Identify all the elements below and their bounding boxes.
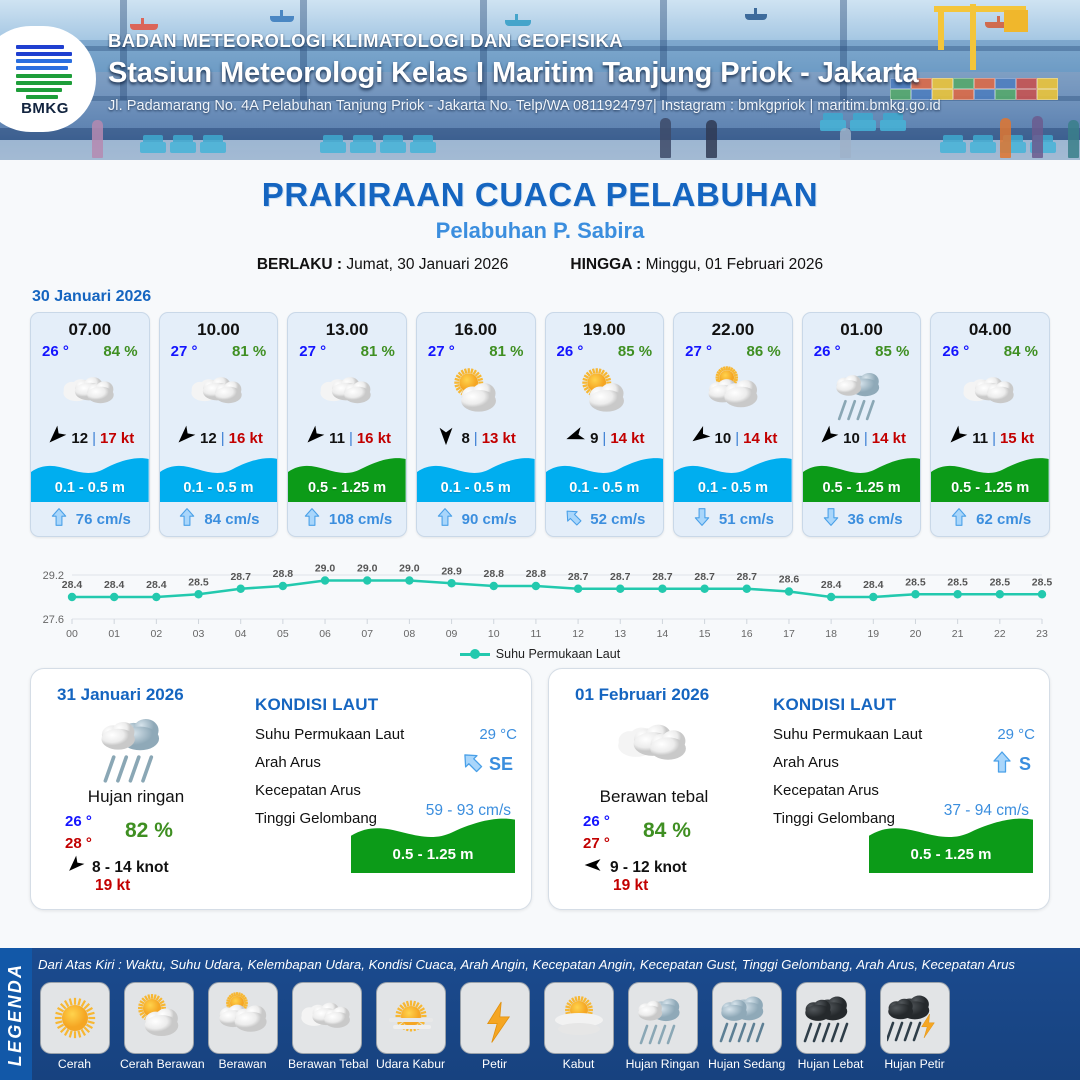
- current-direction-arrow-icon: [949, 507, 969, 531]
- svg-text:28.7: 28.7: [568, 571, 589, 583]
- legend-item: Cerah: [36, 982, 113, 1071]
- day-temp-max: 28 °: [65, 833, 92, 855]
- card-wind-speed: 10: [843, 430, 860, 447]
- svg-text:29.2: 29.2: [43, 570, 64, 582]
- legend-item-label: Hujan Lebat: [792, 1057, 869, 1071]
- bmkg-logo-mark: [16, 41, 74, 99]
- card-gust: 14 kt: [743, 430, 777, 447]
- svg-text:12: 12: [572, 628, 584, 640]
- card-gust: 16 kt: [229, 430, 263, 447]
- boat-icon: [745, 14, 767, 20]
- hourly-forecast-cards: 07.0026 °84 %12|17 kt0.1 - 0.5 m76 cm/s1…: [0, 312, 1080, 537]
- svg-text:16: 16: [741, 628, 753, 640]
- card-wind: 11|15 kt: [931, 424, 1049, 452]
- svg-text:02: 02: [151, 628, 163, 640]
- svg-text:29.0: 29.0: [357, 563, 378, 575]
- card-wind-separator: |: [992, 430, 996, 447]
- card-current-speed: 108 cm/s: [329, 511, 392, 528]
- current-direction-value-group: SE: [460, 750, 513, 779]
- svg-text:04: 04: [235, 628, 247, 640]
- card-wind-separator: |: [864, 430, 868, 447]
- card-temperature: 27 °: [428, 343, 455, 360]
- current-speed-label: Kecepatan Arus: [255, 782, 361, 799]
- card-temp-hum: 26 °85 %: [803, 340, 921, 360]
- card-wind-separator: |: [735, 430, 739, 447]
- card-current: 51 cm/s: [674, 502, 792, 536]
- header-banner: BMKG BADAN METEOROLOGI KLIMATOLOGI DAN G…: [0, 0, 1080, 160]
- forecast-card: 13.0027 °81 %11|16 kt0.5 - 1.25 m108 cm/…: [287, 312, 407, 537]
- svg-text:28.7: 28.7: [694, 571, 715, 583]
- current-direction-value: S: [1019, 754, 1031, 775]
- card-wind-speed: 12: [200, 430, 217, 447]
- card-wind: 8|13 kt: [417, 424, 535, 452]
- hujan-ringan-icon: [803, 362, 921, 424]
- day-humidity: 84 %: [643, 819, 691, 843]
- legend-item-label: Berawan: [204, 1057, 281, 1071]
- legend-item: Petir: [456, 982, 533, 1071]
- boat-icon: [505, 20, 531, 26]
- current-direction-value-group: S: [990, 750, 1031, 779]
- day-temps: 26 °27 °: [583, 811, 610, 855]
- day-temp-min: 26 °: [65, 811, 92, 833]
- card-humidity: 81 %: [232, 343, 266, 360]
- legend-item: Hujan Petir: [876, 982, 953, 1071]
- day-wind-speed: 8 - 14 knot: [92, 859, 169, 877]
- svg-text:28.5: 28.5: [905, 576, 926, 588]
- day-gust: 19 kt: [95, 877, 130, 895]
- card-temp-hum: 26 °84 %: [931, 340, 1049, 360]
- day-humidity: 82 %: [125, 819, 173, 843]
- svg-text:06: 06: [319, 628, 331, 640]
- card-wave-height: 0.1 - 0.5 m: [674, 480, 792, 496]
- berawan-icon: [208, 982, 278, 1054]
- svg-text:18: 18: [825, 628, 837, 640]
- sst-row: Suhu Permukaan Laut29 °C: [255, 726, 517, 743]
- legend-item: Kabut: [540, 982, 617, 1071]
- card-wind-speed: 8: [461, 430, 469, 447]
- card-wave: 0.5 - 1.25 m: [931, 452, 1049, 502]
- card-current: 76 cm/s: [31, 502, 149, 536]
- card-wind: 10|14 kt: [803, 424, 921, 452]
- card-gust: 17 kt: [100, 430, 134, 447]
- card-wind-separator: |: [92, 430, 96, 447]
- current-direction-row: Arah ArusS: [773, 754, 1035, 771]
- card-temperature: 26 °: [557, 343, 584, 360]
- cerah-icon: [40, 982, 110, 1054]
- card-gust: 13 kt: [482, 430, 516, 447]
- current-direction-arrow-icon: [49, 507, 69, 531]
- card-humidity: 85 %: [618, 343, 652, 360]
- card-humidity: 81 %: [489, 343, 523, 360]
- card-wind: 12|17 kt: [31, 424, 149, 452]
- card-temp-hum: 27 °81 %: [417, 340, 535, 360]
- svg-text:15: 15: [699, 628, 711, 640]
- agency-name: BADAN METEOROLOGI KLIMATOLOGI DAN GEOFIS…: [108, 30, 941, 52]
- berawan-tebal-icon: [579, 707, 729, 785]
- hujan-ringan-icon: [628, 982, 698, 1054]
- svg-text:13: 13: [614, 628, 626, 640]
- svg-text:28.5: 28.5: [990, 576, 1011, 588]
- svg-text:28.7: 28.7: [652, 571, 673, 583]
- legend-side-text: LEGENDA: [6, 962, 27, 1065]
- current-direction-label: Arah Arus: [773, 754, 839, 771]
- daily-forecast-panel: 01 Februari 2026Berawan tebal26 °27 °84 …: [548, 668, 1050, 910]
- current-direction-label: Arah Arus: [255, 754, 321, 771]
- sea-condition-title: KONDISI LAUT: [773, 695, 1035, 715]
- petir-icon: [460, 982, 530, 1054]
- legend-item-label: Berawan Tebal: [288, 1057, 365, 1071]
- daily-forecast-panel: 31 Januari 2026Hujan ringan26 °28 °82 %8…: [30, 668, 532, 910]
- legend-item-label: Petir: [456, 1057, 533, 1071]
- day-date: 31 Januari 2026: [57, 685, 184, 705]
- card-wind-speed: 11: [329, 430, 345, 447]
- svg-text:28.5: 28.5: [188, 576, 209, 588]
- card-wave-height: 0.5 - 1.25 m: [931, 480, 1049, 496]
- svg-text:29.0: 29.0: [315, 563, 336, 575]
- card-wind-speed: 12: [71, 430, 88, 447]
- current-direction-value: SE: [489, 754, 513, 775]
- wave-height-value: 0.5 - 1.25 m: [869, 846, 1033, 863]
- current-direction-arrow-icon: [302, 507, 322, 531]
- cerah-berawan-icon: [124, 982, 194, 1054]
- svg-text:01: 01: [108, 628, 120, 640]
- current-direction-row: Arah ArusSE: [255, 754, 517, 771]
- wind-direction-arrow-icon: [45, 425, 67, 451]
- svg-text:28.8: 28.8: [484, 568, 505, 580]
- card-wave-height: 0.5 - 1.25 m: [288, 480, 406, 496]
- card-wave-height: 0.1 - 0.5 m: [417, 480, 535, 496]
- card-wave: 0.1 - 0.5 m: [674, 452, 792, 502]
- station-address: Jl. Padamarang No. 4A Pelabuhan Tanjung …: [108, 98, 941, 114]
- forecast-card: 04.0026 °84 %11|15 kt0.5 - 1.25 m62 cm/s: [930, 312, 1050, 537]
- card-temp-hum: 27 °81 %: [160, 340, 278, 360]
- svg-text:08: 08: [404, 628, 416, 640]
- berawan-tebal-icon: [288, 362, 406, 424]
- svg-text:28.7: 28.7: [737, 571, 758, 583]
- card-temp-hum: 26 °84 %: [31, 340, 149, 360]
- legend-item: Berawan Tebal: [288, 982, 365, 1071]
- card-wind-separator: |: [474, 430, 478, 447]
- svg-text:28.7: 28.7: [230, 571, 251, 583]
- hingga-label: HINGGA :: [570, 256, 641, 273]
- cerah-berawan-icon: [417, 362, 535, 424]
- berawan-tebal-icon: [31, 362, 149, 424]
- forecast-date-label: 30 Januari 2026: [32, 288, 1080, 306]
- legend-item: Berawan: [204, 982, 281, 1071]
- card-wave: 0.5 - 1.25 m: [803, 452, 921, 502]
- day-gust: 19 kt: [613, 877, 648, 895]
- kabut-icon: [544, 982, 614, 1054]
- berlaku-label: BERLAKU :: [257, 256, 342, 273]
- card-wind-separator: |: [349, 430, 353, 447]
- card-current-speed: 84 cm/s: [204, 511, 259, 528]
- berlaku-value: Jumat, 30 Januari 2026: [346, 256, 508, 273]
- svg-text:28.8: 28.8: [526, 568, 547, 580]
- svg-text:14: 14: [657, 628, 669, 640]
- forecast-card: 07.0026 °84 %12|17 kt0.1 - 0.5 m76 cm/s: [30, 312, 150, 537]
- card-wind-speed: 9: [590, 430, 598, 447]
- card-temperature: 27 °: [685, 343, 712, 360]
- legend-caption: Dari Atas Kiri : Waktu, Suhu Udara, Kele…: [38, 957, 1076, 972]
- svg-text:28.4: 28.4: [821, 579, 842, 591]
- card-current-speed: 90 cm/s: [462, 511, 517, 528]
- svg-text:10: 10: [488, 628, 500, 640]
- card-time: 22.00: [674, 313, 792, 340]
- card-time: 04.00: [931, 313, 1049, 340]
- forecast-card: 10.0027 °81 %12|16 kt0.1 - 0.5 m84 cm/s: [159, 312, 279, 537]
- card-time: 19.00: [546, 313, 664, 340]
- svg-text:09: 09: [446, 628, 458, 640]
- svg-text:28.4: 28.4: [62, 579, 83, 591]
- wind-direction-arrow-icon: [65, 855, 85, 880]
- legend-side-label: LEGENDA: [0, 948, 32, 1080]
- day-temp-min: 26 °: [583, 811, 610, 833]
- svg-text:20: 20: [910, 628, 922, 640]
- sst-value: 29 °C: [997, 726, 1035, 743]
- sea-condition-block: KONDISI LAUTSuhu Permukaan Laut29 °CArah…: [255, 695, 517, 827]
- card-gust: 14 kt: [872, 430, 906, 447]
- card-wind-speed: 11: [972, 430, 988, 447]
- current-speed-label: Kecepatan Arus: [773, 782, 879, 799]
- current-direction-arrow-icon: [990, 750, 1014, 779]
- legend-item: Udara Kabur: [372, 982, 449, 1071]
- card-current: 62 cm/s: [931, 502, 1049, 536]
- wind-direction-arrow-icon: [174, 425, 196, 451]
- card-wave: 0.1 - 0.5 m: [546, 452, 664, 502]
- legend-item-label: Cerah Berawan: [120, 1057, 197, 1071]
- berlaku-group: BERLAKU : Jumat, 30 Januari 2026: [257, 256, 509, 274]
- svg-text:28.5: 28.5: [1032, 576, 1053, 588]
- svg-text:28.6: 28.6: [779, 574, 800, 586]
- wind-direction-arrow-icon: [435, 425, 457, 451]
- wave-height-badge: 0.5 - 1.25 m: [869, 811, 1033, 873]
- daily-forecast-panels: 31 Januari 2026Hujan ringan26 °28 °82 %8…: [0, 668, 1080, 910]
- svg-text:03: 03: [193, 628, 205, 640]
- hingga-value: Minggu, 01 Februari 2026: [646, 256, 824, 273]
- sst-label: Suhu Permukaan Laut: [773, 726, 922, 743]
- card-wave: 0.1 - 0.5 m: [417, 452, 535, 502]
- card-humidity: 86 %: [747, 343, 781, 360]
- svg-text:07: 07: [361, 628, 373, 640]
- card-time: 01.00: [803, 313, 921, 340]
- current-direction-arrow-icon: [692, 507, 712, 531]
- udara-kabur-icon: [376, 982, 446, 1054]
- bmkg-logo-text: BMKG: [21, 100, 69, 117]
- hujan-lebat-icon: [796, 982, 866, 1054]
- current-direction-arrow-icon: [563, 507, 583, 531]
- card-humidity: 81 %: [361, 343, 395, 360]
- hingga-group: HINGGA : Minggu, 01 Februari 2026: [570, 256, 823, 274]
- legend-item-label: Hujan Petir: [876, 1057, 953, 1071]
- sst-chart: 29.227.600010203040506070809101112131415…: [20, 547, 1060, 662]
- svg-text:28.4: 28.4: [863, 579, 884, 591]
- sst-row: Suhu Permukaan Laut29 °C: [773, 726, 1035, 743]
- legend-item-label: Kabut: [540, 1057, 617, 1071]
- validity-row: BERLAKU : Jumat, 30 Januari 2026 HINGGA …: [0, 256, 1080, 274]
- day-wind-speed: 9 - 12 knot: [610, 859, 687, 877]
- page-title-block: PRAKIRAAN CUACA PELABUHAN Pelabuhan P. S…: [0, 176, 1080, 274]
- card-current: 90 cm/s: [417, 502, 535, 536]
- card-wave: 0.5 - 1.25 m: [288, 452, 406, 502]
- svg-text:28.9: 28.9: [441, 565, 462, 577]
- legend-item: Hujan Sedang: [708, 982, 785, 1071]
- wind-direction-arrow-icon: [946, 425, 968, 451]
- current-speed-row: Kecepatan Arus59 - 93 cm/s: [255, 782, 517, 799]
- card-time: 13.00: [288, 313, 406, 340]
- legend-item: Hujan Ringan: [624, 982, 701, 1071]
- day-condition: Berawan tebal: [549, 787, 759, 807]
- forecast-card: 19.0026 °85 %9|14 kt0.1 - 0.5 m52 cm/s: [545, 312, 665, 537]
- hujan-petir-icon: [880, 982, 950, 1054]
- svg-text:00: 00: [66, 628, 78, 640]
- card-humidity: 84 %: [1004, 343, 1038, 360]
- card-humidity: 84 %: [103, 343, 137, 360]
- day-date: 01 Februari 2026: [575, 685, 709, 705]
- card-wind-separator: |: [221, 430, 225, 447]
- card-wind: 10|14 kt: [674, 424, 792, 452]
- banner-text-block: BADAN METEOROLOGI KLIMATOLOGI DAN GEOFIS…: [108, 30, 941, 114]
- svg-text:21: 21: [952, 628, 964, 640]
- card-current-speed: 76 cm/s: [76, 511, 131, 528]
- day-condition: Hujan ringan: [31, 787, 241, 807]
- day-temps: 26 °28 °: [65, 811, 92, 855]
- station-name: Stasiun Meteorologi Kelas I Maritim Tanj…: [108, 57, 941, 90]
- legend-item: Cerah Berawan: [120, 982, 197, 1071]
- card-current-speed: 36 cm/s: [848, 511, 903, 528]
- chart-legend-label: Suhu Permukaan Laut: [496, 647, 620, 661]
- svg-text:29.0: 29.0: [399, 563, 420, 575]
- berawan-tebal-icon: [160, 362, 278, 424]
- svg-text:28.4: 28.4: [146, 579, 167, 591]
- forecast-card: 01.0026 °85 %10|14 kt0.5 - 1.25 m36 cm/s: [802, 312, 922, 537]
- wind-direction-arrow-icon: [817, 425, 839, 451]
- hujan-ringan-icon: [61, 707, 211, 785]
- legend-items: CerahCerah BerawanBerawanBerawan TebalUd…: [36, 982, 1078, 1071]
- forecast-card: 16.0027 °81 %8|13 kt0.1 - 0.5 m90 cm/s: [416, 312, 536, 537]
- legend-item: Hujan Lebat: [792, 982, 869, 1071]
- svg-text:28.8: 28.8: [273, 568, 294, 580]
- card-temp-hum: 26 °85 %: [546, 340, 664, 360]
- card-temp-hum: 27 °81 %: [288, 340, 406, 360]
- page-title: PRAKIRAAN CUACA PELABUHAN: [0, 176, 1080, 214]
- card-temperature: 27 °: [171, 343, 198, 360]
- wave-height-row: Tinggi Gelombang0.5 - 1.25 m: [255, 810, 517, 827]
- card-temp-hum: 27 °86 %: [674, 340, 792, 360]
- svg-text:23: 23: [1036, 628, 1048, 640]
- card-humidity: 85 %: [875, 343, 909, 360]
- current-direction-arrow-icon: [821, 507, 841, 531]
- sst-value: 29 °C: [479, 726, 517, 743]
- svg-text:28.5: 28.5: [947, 576, 968, 588]
- sea-condition-block: KONDISI LAUTSuhu Permukaan Laut29 °CArah…: [773, 695, 1035, 827]
- berawan-tebal-icon: [931, 362, 1049, 424]
- card-gust: 14 kt: [610, 430, 644, 447]
- card-wave: 0.1 - 0.5 m: [160, 452, 278, 502]
- svg-text:19: 19: [867, 628, 879, 640]
- legend-item-label: Hujan Ringan: [624, 1057, 701, 1071]
- card-wave-height: 0.1 - 0.5 m: [31, 480, 149, 496]
- svg-text:17: 17: [783, 628, 795, 640]
- card-current-speed: 52 cm/s: [590, 511, 645, 528]
- svg-text:22: 22: [994, 628, 1006, 640]
- chart-legend-marker: [460, 653, 490, 656]
- svg-text:28.7: 28.7: [610, 571, 631, 583]
- wave-height-value: 0.5 - 1.25 m: [351, 846, 515, 863]
- card-current-speed: 62 cm/s: [976, 511, 1031, 528]
- boat-icon: [270, 16, 294, 22]
- card-wind-separator: |: [602, 430, 606, 447]
- svg-text:11: 11: [530, 628, 541, 640]
- wind-direction-arrow-icon: [583, 855, 603, 880]
- card-wind: 12|16 kt: [160, 424, 278, 452]
- card-current: 52 cm/s: [546, 502, 664, 536]
- card-temperature: 26 °: [42, 343, 69, 360]
- card-current-speed: 51 cm/s: [719, 511, 774, 528]
- card-time: 10.00: [160, 313, 278, 340]
- berawan-tebal-icon: [292, 982, 362, 1054]
- card-temperature: 27 °: [299, 343, 326, 360]
- svg-text:05: 05: [277, 628, 289, 640]
- current-direction-arrow-icon: [460, 750, 484, 779]
- legend-item-label: Cerah: [36, 1057, 113, 1071]
- card-current: 84 cm/s: [160, 502, 278, 536]
- card-current: 108 cm/s: [288, 502, 406, 536]
- card-temperature: 26 °: [814, 343, 841, 360]
- day-temp-max: 27 °: [583, 833, 610, 855]
- card-gust: 15 kt: [1000, 430, 1034, 447]
- card-wave-height: 0.5 - 1.25 m: [803, 480, 921, 496]
- card-gust: 16 kt: [357, 430, 391, 447]
- card-temperature: 26 °: [942, 343, 969, 360]
- forecast-card: 22.0027 °86 %10|14 kt0.1 - 0.5 m51 cm/s: [673, 312, 793, 537]
- wave-height-badge: 0.5 - 1.25 m: [351, 811, 515, 873]
- card-current: 36 cm/s: [803, 502, 921, 536]
- wave-height-row: Tinggi Gelombang0.5 - 1.25 m: [773, 810, 1035, 827]
- current-speed-row: Kecepatan Arus37 - 94 cm/s: [773, 782, 1035, 799]
- legend-item-label: Hujan Sedang: [708, 1057, 785, 1071]
- hujan-sedang-icon: [712, 982, 782, 1054]
- chart-legend: Suhu Permukaan Laut: [20, 647, 1060, 661]
- wind-direction-arrow-icon: [303, 425, 325, 451]
- legend-strip: LEGENDA Dari Atas Kiri : Waktu, Suhu Uda…: [0, 948, 1080, 1080]
- card-wave-height: 0.1 - 0.5 m: [546, 480, 664, 496]
- svg-text:28.4: 28.4: [104, 579, 125, 591]
- card-wind-speed: 10: [715, 430, 732, 447]
- card-wave: 0.1 - 0.5 m: [31, 452, 149, 502]
- card-time: 16.00: [417, 313, 535, 340]
- wind-direction-arrow-icon: [564, 425, 586, 451]
- card-wave-height: 0.1 - 0.5 m: [160, 480, 278, 496]
- current-direction-arrow-icon: [177, 507, 197, 531]
- current-direction-arrow-icon: [435, 507, 455, 531]
- wind-direction-arrow-icon: [689, 425, 711, 451]
- sea-condition-title: KONDISI LAUT: [255, 695, 517, 715]
- sst-label: Suhu Permukaan Laut: [255, 726, 404, 743]
- svg-text:27.6: 27.6: [43, 614, 64, 626]
- page-subtitle: Pelabuhan P. Sabira: [0, 218, 1080, 244]
- berawan-icon: [674, 362, 792, 424]
- card-time: 07.00: [31, 313, 149, 340]
- card-wind: 11|16 kt: [288, 424, 406, 452]
- legend-item-label: Udara Kabur: [372, 1057, 449, 1071]
- card-wind: 9|14 kt: [546, 424, 664, 452]
- cerah-berawan-icon: [546, 362, 664, 424]
